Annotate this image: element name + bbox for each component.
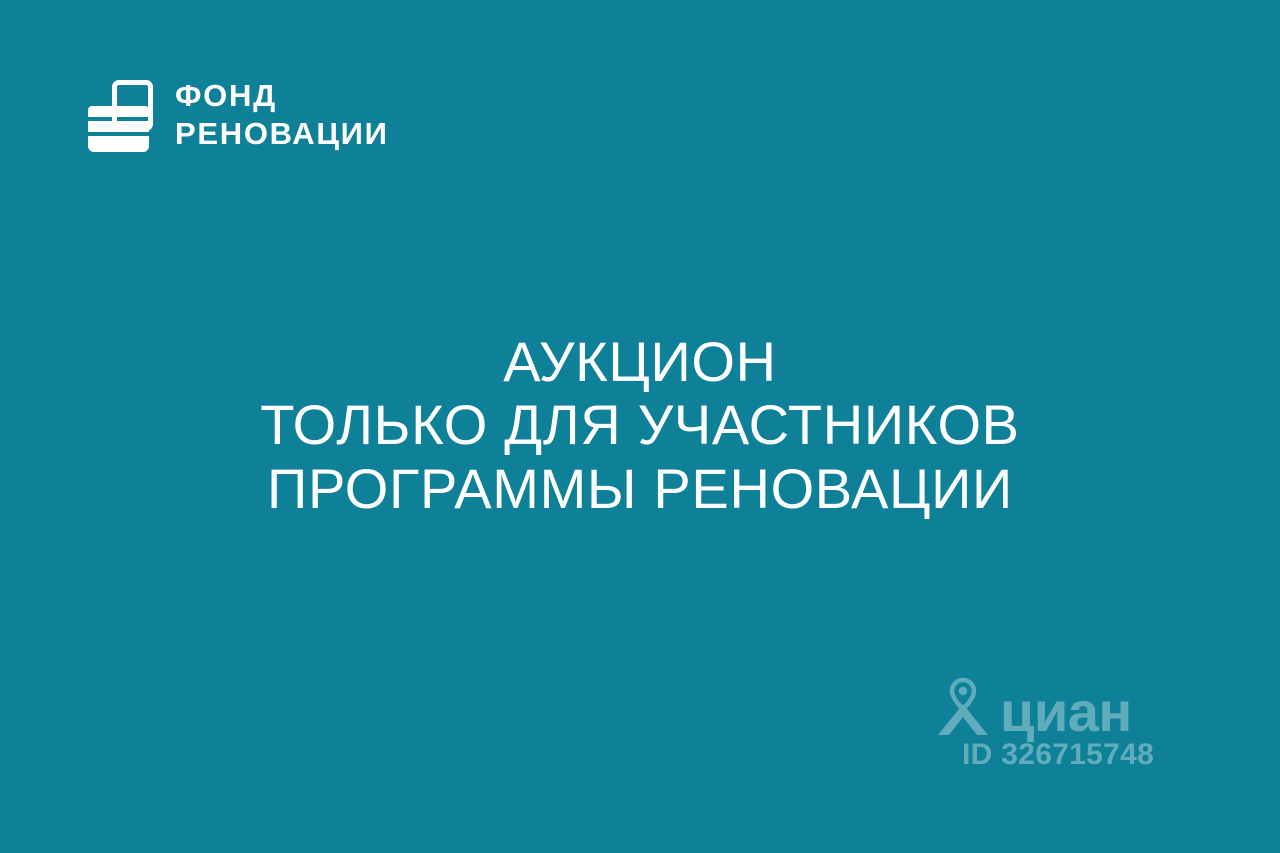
headline-line-1: АУКЦИОН <box>0 330 1280 393</box>
brand-logo: ФОНД РЕНОВАЦИИ <box>85 74 389 156</box>
headline-line-2: ТОЛЬКО ДЛЯ УЧАСТНИКОВ <box>0 393 1280 456</box>
headline-line-3: ПРОГРАММЫ РЕНОВАЦИИ <box>0 457 1280 520</box>
brand-wordmark-line-1: ФОНД <box>175 77 389 115</box>
banner-image: ФОНД РЕНОВАЦИИ АУКЦИОН ТОЛЬКО ДЛЯ УЧАСТН… <box>0 0 1280 853</box>
card-stack-bar-3 <box>88 136 149 152</box>
card-stack-bar-1 <box>88 106 149 117</box>
card-stack-bar-2 <box>88 121 149 132</box>
brand-wordmark: ФОНД РЕНОВАЦИИ <box>175 77 389 153</box>
brand-wordmark-line-2: РЕНОВАЦИИ <box>175 115 389 153</box>
stacked-cards-icon <box>85 74 153 156</box>
headline-block: АУКЦИОН ТОЛЬКО ДЛЯ УЧАСТНИКОВ ПРОГРАММЫ … <box>0 330 1280 520</box>
